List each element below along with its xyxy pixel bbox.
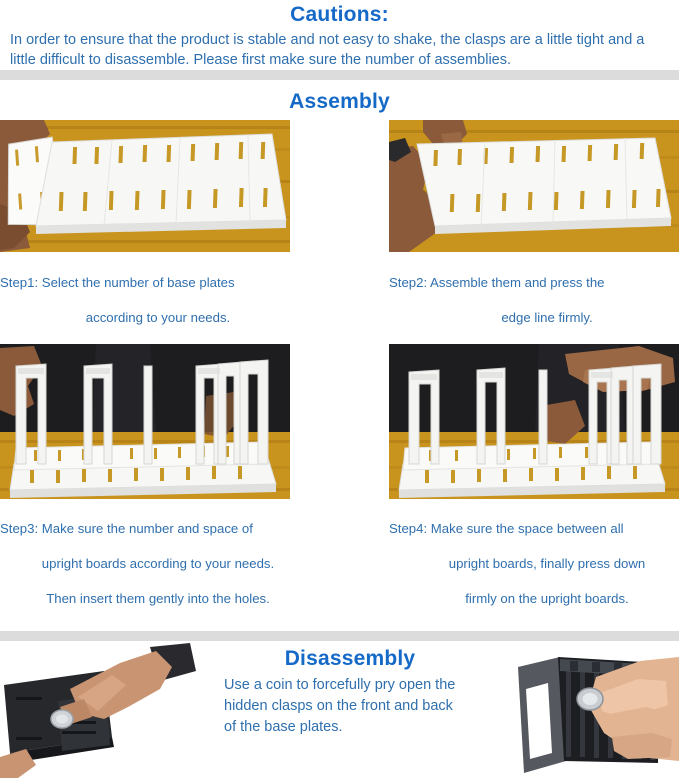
- step1-caption-line1: Step1: Select the number of base plates: [0, 274, 290, 292]
- disassembly-section: Disassembly Use a coin to forcefully pry…: [0, 641, 679, 783]
- disassembly-title: Disassembly: [200, 647, 500, 671]
- disassembly-photo-right: [500, 641, 679, 783]
- step2-caption: Step2: Assemble them and press the edge …: [389, 252, 679, 344]
- disassembly-body-line1: Use a coin to forcefully pry open the: [224, 675, 500, 696]
- disassembly-right-image: [500, 641, 679, 778]
- step4-caption-line2: upright boards, finally press down: [389, 555, 679, 573]
- step4-caption: Step4: Make sure the space between all u…: [389, 499, 679, 626]
- step1-photo: [0, 120, 290, 252]
- step3-caption-line2: upright boards according to your needs.: [0, 555, 290, 573]
- step3-caption-line1: Step3: Make sure the number and space of: [0, 520, 290, 538]
- disassembly-text-block: Disassembly Use a coin to forcefully pry…: [200, 641, 500, 738]
- step2-image: [389, 120, 679, 252]
- disassembly-left-image: [0, 641, 200, 778]
- step3-caption-line3: Then insert them gently into the holes.: [0, 590, 290, 608]
- photo-gutter-1: [290, 120, 389, 252]
- step3-image: [0, 344, 290, 499]
- assembly-section: Assembly: [0, 80, 679, 625]
- product-instruction-infographic: Cautions: In order to ensure that the pr…: [0, 2, 679, 674]
- assembly-photo-row-1: [0, 120, 679, 252]
- step2-caption-line2: edge line firmly.: [389, 309, 679, 327]
- divider-top: [0, 70, 679, 80]
- step4-image: [389, 344, 679, 499]
- caption-gutter-1: [290, 252, 389, 344]
- step4-caption-line1: Step4: Make sure the space between all: [389, 520, 679, 538]
- step3-photo: [0, 344, 290, 499]
- assembly-captions-row-2: Step3: Make sure the number and space of…: [0, 499, 679, 626]
- step4-photo: [389, 344, 679, 499]
- step2-caption-line1: Step2: Assemble them and press the: [389, 274, 679, 292]
- step3-caption: Step3: Make sure the number and space of…: [0, 499, 290, 626]
- step2-photo: [389, 120, 679, 252]
- cautions-title: Cautions:: [6, 2, 673, 27]
- assembly-captions-row-1: Step1: Select the number of base plates …: [0, 252, 679, 344]
- caption-gutter-2: [290, 499, 389, 626]
- step1-image: [0, 120, 290, 252]
- photo-gutter-2: [290, 344, 389, 499]
- disassembly-body: Use a coin to forcefully pry open the hi…: [200, 675, 500, 738]
- cautions-body: In order to ensure that the product is s…: [6, 30, 673, 70]
- disassembly-body-line2: hidden clasps on the front and back: [224, 696, 500, 717]
- assembly-title: Assembly: [0, 80, 679, 120]
- divider-bottom: [0, 631, 679, 641]
- assembly-photo-row-2: [0, 344, 679, 499]
- disassembly-photo-left: [0, 641, 200, 783]
- step4-caption-line3: firmly on the upright boards.: [389, 590, 679, 608]
- step1-caption-line2: according to your needs.: [0, 309, 290, 327]
- step1-caption: Step1: Select the number of base plates …: [0, 252, 290, 344]
- cautions-section: Cautions: In order to ensure that the pr…: [0, 2, 679, 70]
- disassembly-body-line3: of the base plates.: [224, 717, 500, 738]
